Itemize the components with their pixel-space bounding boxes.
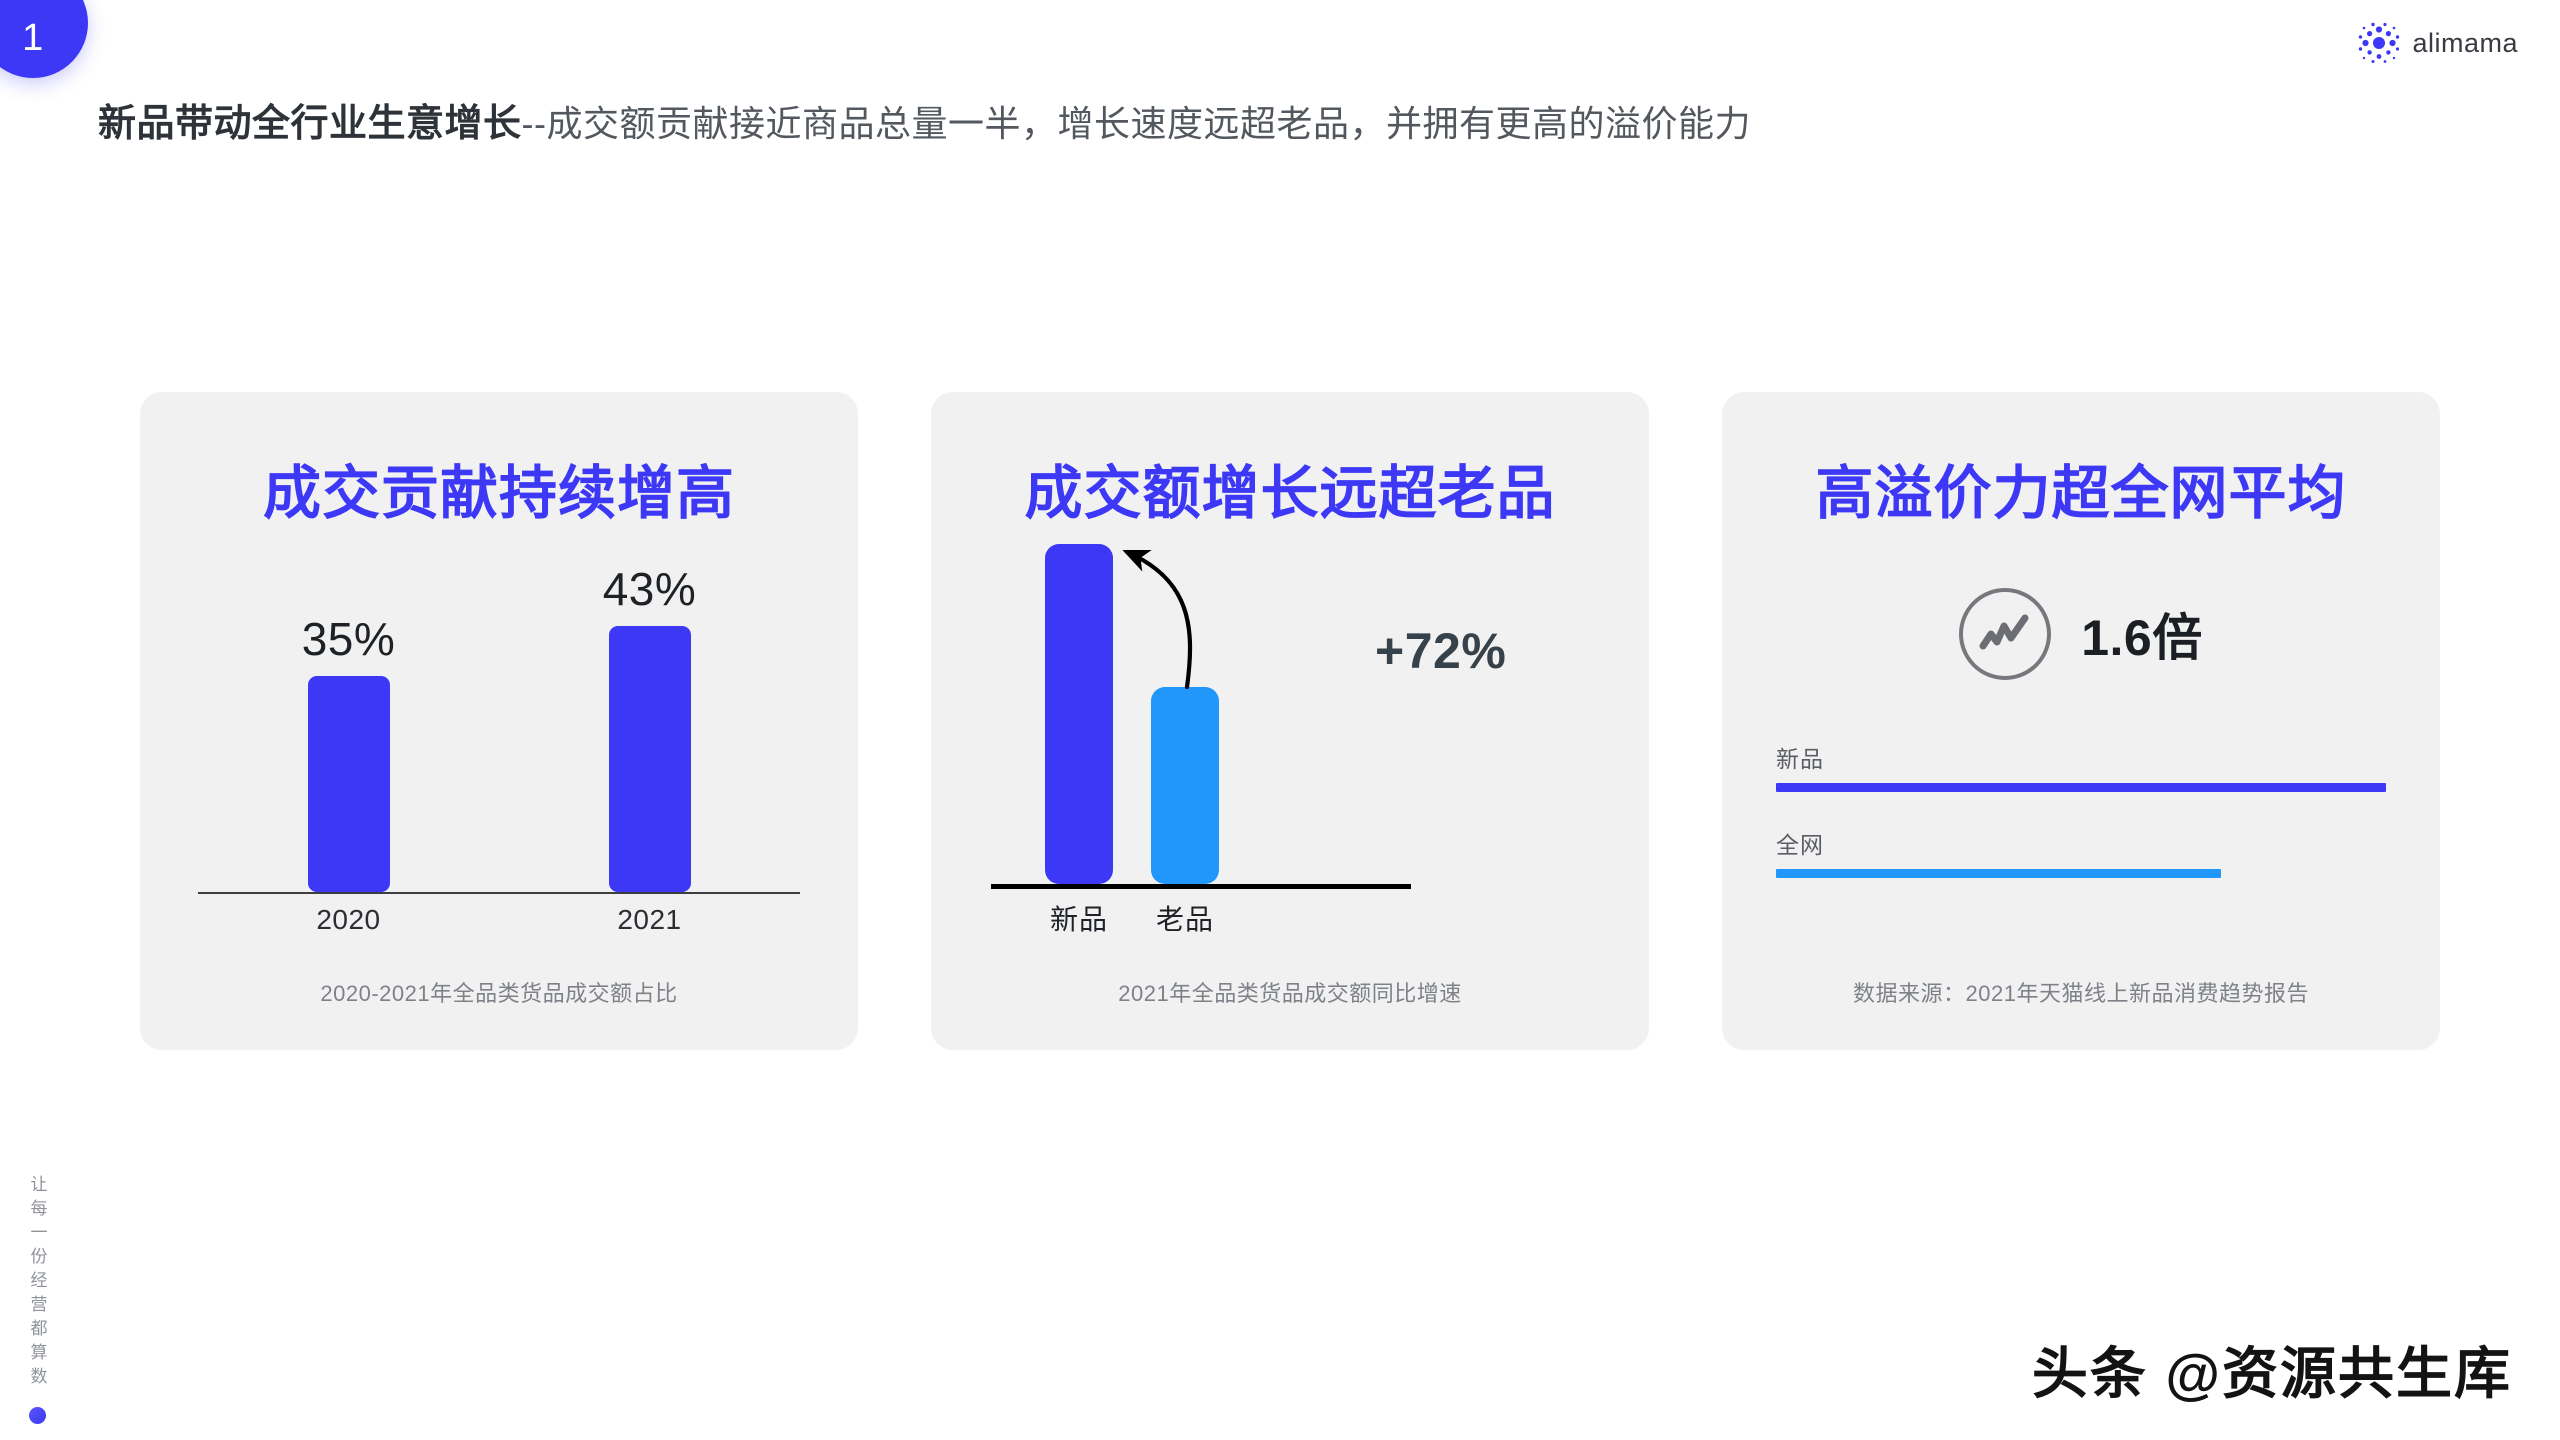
tagline-dot-icon xyxy=(29,1407,46,1424)
brand-wordmark: alimama xyxy=(2412,28,2518,59)
premium-multiple-value: 1.6倍 xyxy=(2081,598,2203,670)
contribution-axis-ticks: 2020 2021 xyxy=(198,904,800,936)
card-growth: 成交额增长远超老品 新品 老品 +72% 2021年全品类货 xyxy=(931,392,1649,1050)
growth-tick-old: 老品 xyxy=(1151,898,1219,938)
trending-up-circle-icon xyxy=(1959,588,2051,680)
slide-number-badge: 1 xyxy=(0,0,88,78)
growth-delta-label: +72% xyxy=(1375,622,1506,680)
page-title-lead: 新品带动全行业生意增长 xyxy=(98,103,522,145)
trending-up-icon xyxy=(1977,612,2033,656)
premium-metric-all-fill xyxy=(1776,869,2221,878)
page-title: 新品带动全行业生意增长--成交额贡献接近商品总量一半，增长速度远超老品，并拥有更… xyxy=(98,92,1751,147)
premium-metrics-block: 1.6倍 新品 全网 xyxy=(1776,588,2386,912)
growth-tick-new: 新品 xyxy=(1045,898,1113,938)
premium-metric-new-track xyxy=(1776,783,2386,792)
premium-metric-all-track xyxy=(1776,869,2386,878)
cards-row: 成交贡献持续增高 35% 43% 2020 2021 2020-2021年全品类… xyxy=(140,392,2440,1050)
contribution-value-2020: 35% xyxy=(302,612,396,666)
premium-metric-new-fill xyxy=(1776,783,2386,792)
growth-curved-arrow-icon xyxy=(1083,532,1383,782)
contribution-bar-chart: 35% 43% 2020 2021 xyxy=(198,552,800,942)
contribution-column-2021: 43% xyxy=(555,552,745,892)
slide-number-label: 1 xyxy=(22,17,44,60)
card-contribution-title: 成交贡献持续增高 xyxy=(140,446,858,530)
contribution-axis-line xyxy=(198,892,800,894)
contribution-bar-2021 xyxy=(609,626,691,892)
card-contribution-caption: 2020-2021年全品类货品成交额占比 xyxy=(140,976,858,1008)
card-premium-caption: 数据来源：2021年天猫线上新品消费趋势报告 xyxy=(1722,976,2440,1008)
watermark-text: 头条 @资源共生库 xyxy=(2032,1329,2512,1410)
alimama-dots-logo-icon xyxy=(2356,20,2402,66)
contribution-tick-2020: 2020 xyxy=(254,904,444,936)
premium-metric-new-label: 新品 xyxy=(1776,740,2386,774)
card-premium-title: 高溢价力超全网平均 xyxy=(1722,446,2440,530)
page-title-rest: --成交额贡献接近商品总量一半，增长速度远超老品，并拥有更高的溢价能力 xyxy=(522,103,1751,144)
contribution-tick-2021: 2021 xyxy=(555,904,745,936)
contribution-plot-area: 35% 43% xyxy=(198,552,800,892)
card-growth-caption: 2021年全品类货品成交额同比增速 xyxy=(931,976,1649,1008)
premium-metric-all-label: 全网 xyxy=(1776,826,2386,860)
growth-axis-line xyxy=(991,884,1411,889)
card-contribution: 成交贡献持续增高 35% 43% 2020 2021 2020-2021年全品类… xyxy=(140,392,858,1050)
vertical-tagline-text: 让每一份经营都算数 xyxy=(29,1175,46,1391)
vertical-tagline: 让每一份经营都算数 xyxy=(20,1175,54,1424)
brand-logo: alimama xyxy=(2356,20,2518,66)
contribution-bar-2020 xyxy=(308,676,390,892)
premium-metric-all: 全网 xyxy=(1776,826,2386,878)
premium-metric-new: 新品 xyxy=(1776,740,2386,792)
growth-bar-chart: 新品 老品 +72% xyxy=(983,544,1597,964)
contribution-column-2020: 35% xyxy=(254,552,444,892)
contribution-value-2021: 43% xyxy=(603,562,697,616)
card-premium: 高溢价力超全网平均 1.6倍 新品 全网 xyxy=(1722,392,2440,1050)
growth-axis-ticks: 新品 老品 xyxy=(1045,898,1335,938)
premium-headline: 1.6倍 xyxy=(1776,588,2386,680)
card-growth-title: 成交额增长远超老品 xyxy=(931,446,1649,530)
